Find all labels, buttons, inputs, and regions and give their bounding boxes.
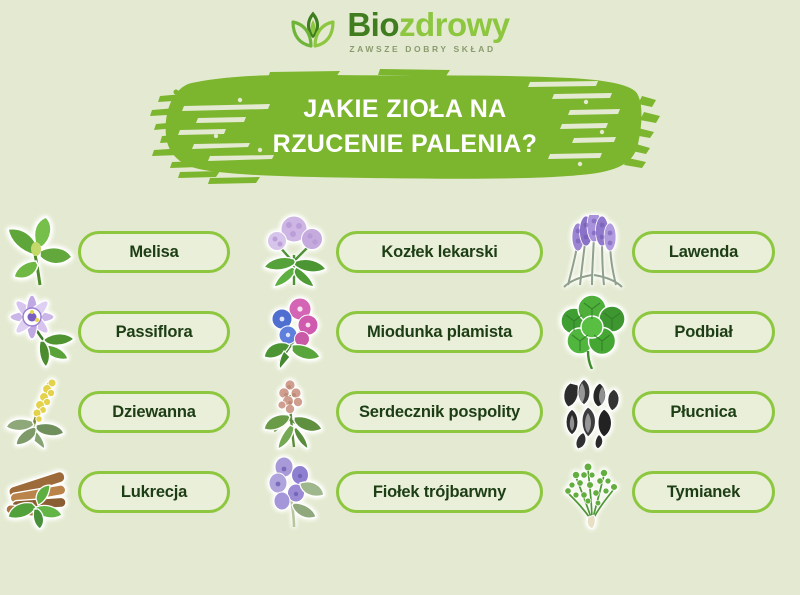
motherwort-plant-icon bbox=[258, 373, 338, 451]
herb-label: Fiołek trójbarwny bbox=[373, 483, 506, 502]
list-item[interactable]: Passiflora bbox=[0, 292, 250, 372]
herb-pill[interactable]: Lawenda bbox=[632, 231, 775, 273]
herb-pill[interactable]: Serdecznik pospolity bbox=[336, 391, 543, 433]
herb-column-left: Melisa bbox=[0, 212, 250, 532]
list-item[interactable]: Dziewanna bbox=[0, 372, 250, 452]
herb-label: Serdecznik pospolity bbox=[359, 403, 520, 422]
herb-pill[interactable]: Lukrecja bbox=[78, 471, 230, 513]
herb-pill[interactable]: Kozłek lekarski bbox=[336, 231, 543, 273]
list-item[interactable]: Płucnica bbox=[556, 372, 800, 452]
list-item[interactable]: Lukrecja bbox=[0, 452, 250, 532]
herb-pill[interactable]: Podbiał bbox=[632, 311, 775, 353]
title-banner: JAKIE ZIOŁA NA RZUCENIE PALENIA? bbox=[150, 66, 660, 188]
banner-title-line-1: JAKIE ZIOŁA NA bbox=[303, 95, 506, 124]
herb-column-middle: Kozłek lekarski bbox=[258, 212, 548, 532]
herb-label: Lukrecja bbox=[121, 483, 187, 502]
valerian-plant-icon bbox=[258, 213, 338, 291]
list-item[interactable]: Tymianek bbox=[556, 452, 800, 532]
lungwort-plant-icon bbox=[258, 293, 338, 371]
herb-pill[interactable]: Płucnica bbox=[632, 391, 775, 433]
list-item[interactable]: Miodunka plamista bbox=[258, 292, 548, 372]
logo-word-bio: Bio bbox=[347, 6, 399, 43]
herb-pill[interactable]: Dziewanna bbox=[78, 391, 230, 433]
logo-word-zdrowy: zdrowy bbox=[399, 6, 510, 43]
herb-pill[interactable]: Miodunka plamista bbox=[336, 311, 543, 353]
passionflower-plant-icon bbox=[0, 293, 80, 371]
herb-label: Melisa bbox=[129, 243, 178, 262]
herb-label: Miodunka plamista bbox=[367, 323, 512, 342]
list-item[interactable]: Melisa bbox=[0, 212, 250, 292]
banner-title-line-2: RZUCENIE PALENIA? bbox=[273, 130, 538, 159]
wild-pansy-plant-icon bbox=[258, 453, 338, 531]
mullein-plant-icon bbox=[0, 373, 80, 451]
herb-pill[interactable]: Melisa bbox=[78, 231, 230, 273]
herb-label: Płucnica bbox=[670, 403, 736, 422]
herb-pill[interactable]: Fiołek trójbarwny bbox=[336, 471, 543, 513]
herb-label: Passiflora bbox=[116, 323, 193, 342]
sprout-leaf-icon bbox=[290, 8, 338, 54]
lemon-balm-plant-icon bbox=[0, 213, 80, 291]
brand-logo: Biozdrowy ZAWSZE DOBRY SKŁAD bbox=[0, 8, 800, 54]
list-item[interactable]: Fiołek trójbarwny bbox=[258, 452, 548, 532]
list-item[interactable]: Kozłek lekarski bbox=[258, 212, 548, 292]
herb-label: Lawenda bbox=[669, 243, 738, 262]
herb-label: Tymianek bbox=[667, 483, 740, 502]
coltsfoot-plant-icon bbox=[556, 293, 636, 371]
herb-label: Kozłek lekarski bbox=[381, 243, 497, 262]
herb-label: Dziewanna bbox=[112, 403, 195, 422]
herb-column-right: Lawenda bbox=[556, 212, 800, 532]
herb-pill[interactable]: Passiflora bbox=[78, 311, 230, 353]
herb-label: Podbiał bbox=[674, 323, 732, 342]
herb-pill[interactable]: Tymianek bbox=[632, 471, 775, 513]
logo-tagline: ZAWSZE DOBRY SKŁAD bbox=[349, 45, 495, 54]
thyme-plant-icon bbox=[556, 453, 636, 531]
list-item[interactable]: Podbiał bbox=[556, 292, 800, 372]
list-item[interactable]: Lawenda bbox=[556, 212, 800, 292]
lavender-plant-icon bbox=[556, 213, 636, 291]
licorice-sticks-icon bbox=[0, 453, 80, 531]
list-item[interactable]: Serdecznik pospolity bbox=[258, 372, 548, 452]
iceland-moss-lichen-icon bbox=[556, 373, 636, 451]
